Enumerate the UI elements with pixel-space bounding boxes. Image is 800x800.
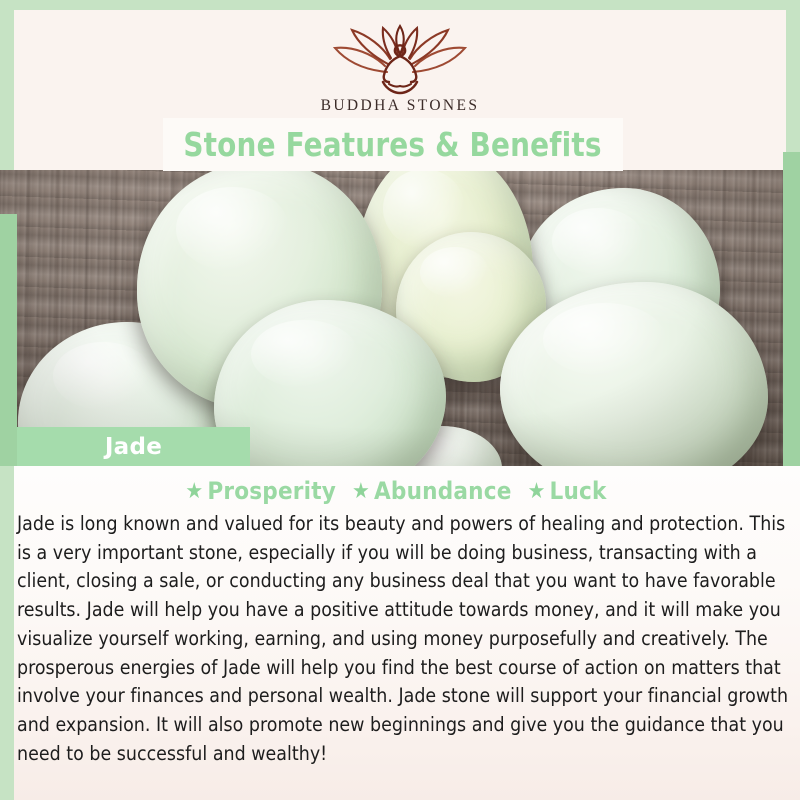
brand-logo: BUDDHA STONES	[14, 24, 786, 115]
left-green-accent-bar	[0, 214, 17, 466]
jade-stones-photo	[0, 170, 784, 466]
benefit-label-abundance: Abundance	[374, 477, 512, 505]
page-title: Stone Features & Benefits	[184, 125, 602, 164]
star-icon: ★	[528, 479, 546, 504]
benefit-label-luck: Luck	[550, 477, 607, 505]
brand-name: BUDDHA STONES	[14, 97, 786, 115]
benefit-label-prosperity: Prosperity	[207, 477, 336, 505]
star-icon: ★	[352, 479, 370, 504]
right-green-accent-bar	[783, 152, 800, 466]
benefits-row: ★Prosperity★Abundance★Luck	[14, 477, 774, 505]
description-text: Jade is long known and valued for its be…	[17, 510, 799, 768]
infographic-page: BUDDHA STONES Stone Features & Benefits …	[0, 0, 800, 800]
stone-name-label: Jade	[105, 434, 162, 460]
description-panel: ★Prosperity★Abundance★Luck Jade is long …	[14, 466, 800, 800]
title-banner: Stone Features & Benefits	[163, 118, 623, 171]
stone-name-badge: Jade	[17, 427, 250, 466]
star-icon: ★	[185, 479, 203, 504]
lotus-meditation-figure-icon	[325, 24, 475, 96]
